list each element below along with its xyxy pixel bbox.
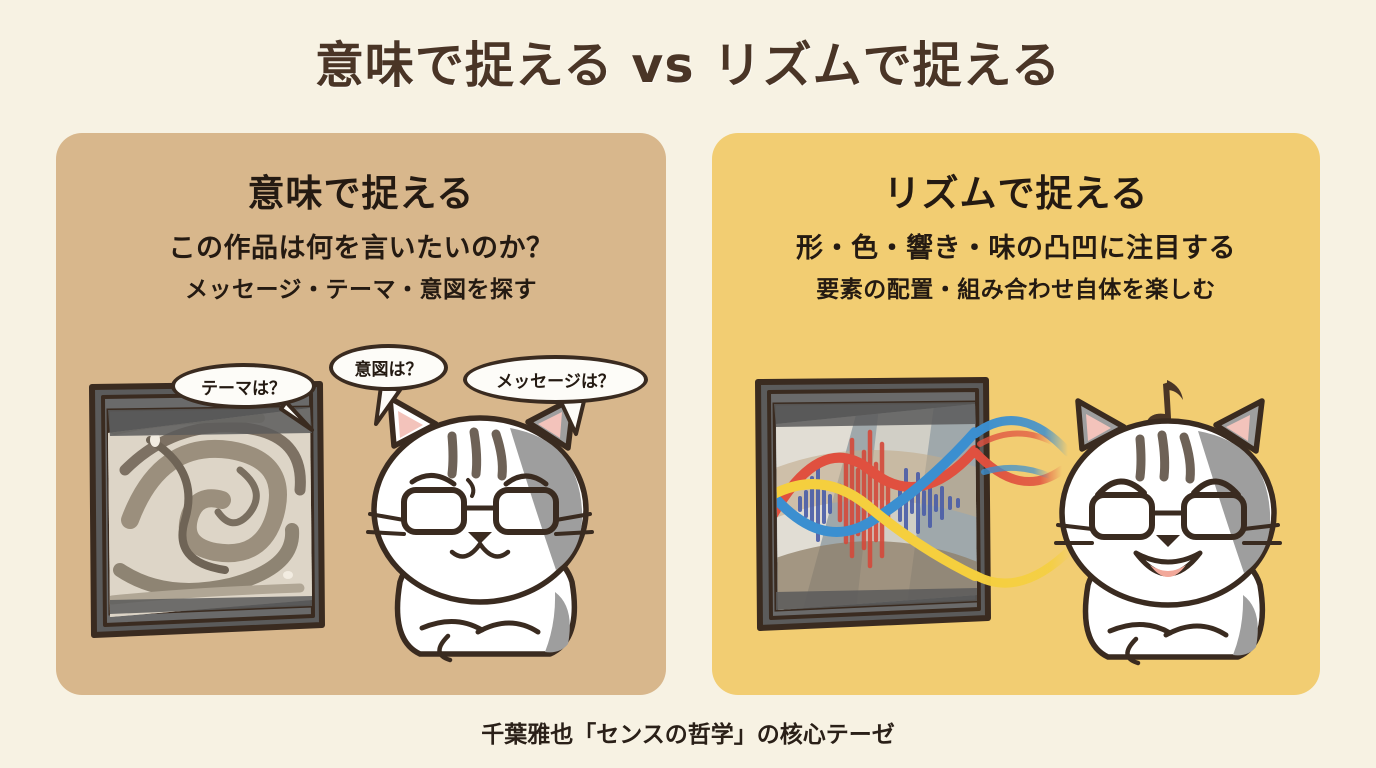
panel-rhythm: リズムで捉える 形・色・響き・味の凸凹に注目する 要素の配置・組み合わせ自体を楽… bbox=[712, 133, 1320, 695]
speech-bubble-message-text: メッセージは？ bbox=[496, 367, 615, 392]
infographic-canvas: 意味で捉える vs リズムで捉える 意味で捉える この作品は何を言いたいのか？ … bbox=[0, 0, 1376, 768]
panel-meaning-subtitle-2: メッセージ・テーマ・意図を探す bbox=[56, 270, 666, 304]
footer-caption: 千葉雅也「センスの哲学」の核心テーゼ bbox=[0, 715, 1376, 749]
panel-meaning-heading: 意味で捉える bbox=[56, 163, 666, 217]
panel-rhythm-heading: リズムで捉える bbox=[712, 163, 1320, 217]
speech-bubble-intent: 意図は？ bbox=[329, 344, 448, 391]
panel-meaning: 意味で捉える この作品は何を言いたいのか？ メッセージ・テーマ・意図を探す bbox=[56, 133, 666, 695]
speech-bubble-message: メッセージは？ bbox=[463, 355, 648, 404]
panel-meaning-subtitle-1: この作品は何を言いたいのか？ bbox=[56, 226, 666, 265]
panel-rhythm-subtitle-1: 形・色・響き・味の凸凹に注目する bbox=[712, 226, 1320, 265]
panel-rhythm-subtitle-2: 要素の配置・組み合わせ自体を楽しむ bbox=[712, 270, 1320, 304]
page-title: 意味で捉える vs リズムで捉える bbox=[0, 26, 1376, 97]
speech-bubble-theme: テーマは？ bbox=[171, 363, 316, 409]
speech-bubble-theme-text: テーマは？ bbox=[201, 374, 286, 399]
speech-bubble-intent-text: 意図は？ bbox=[355, 355, 423, 380]
